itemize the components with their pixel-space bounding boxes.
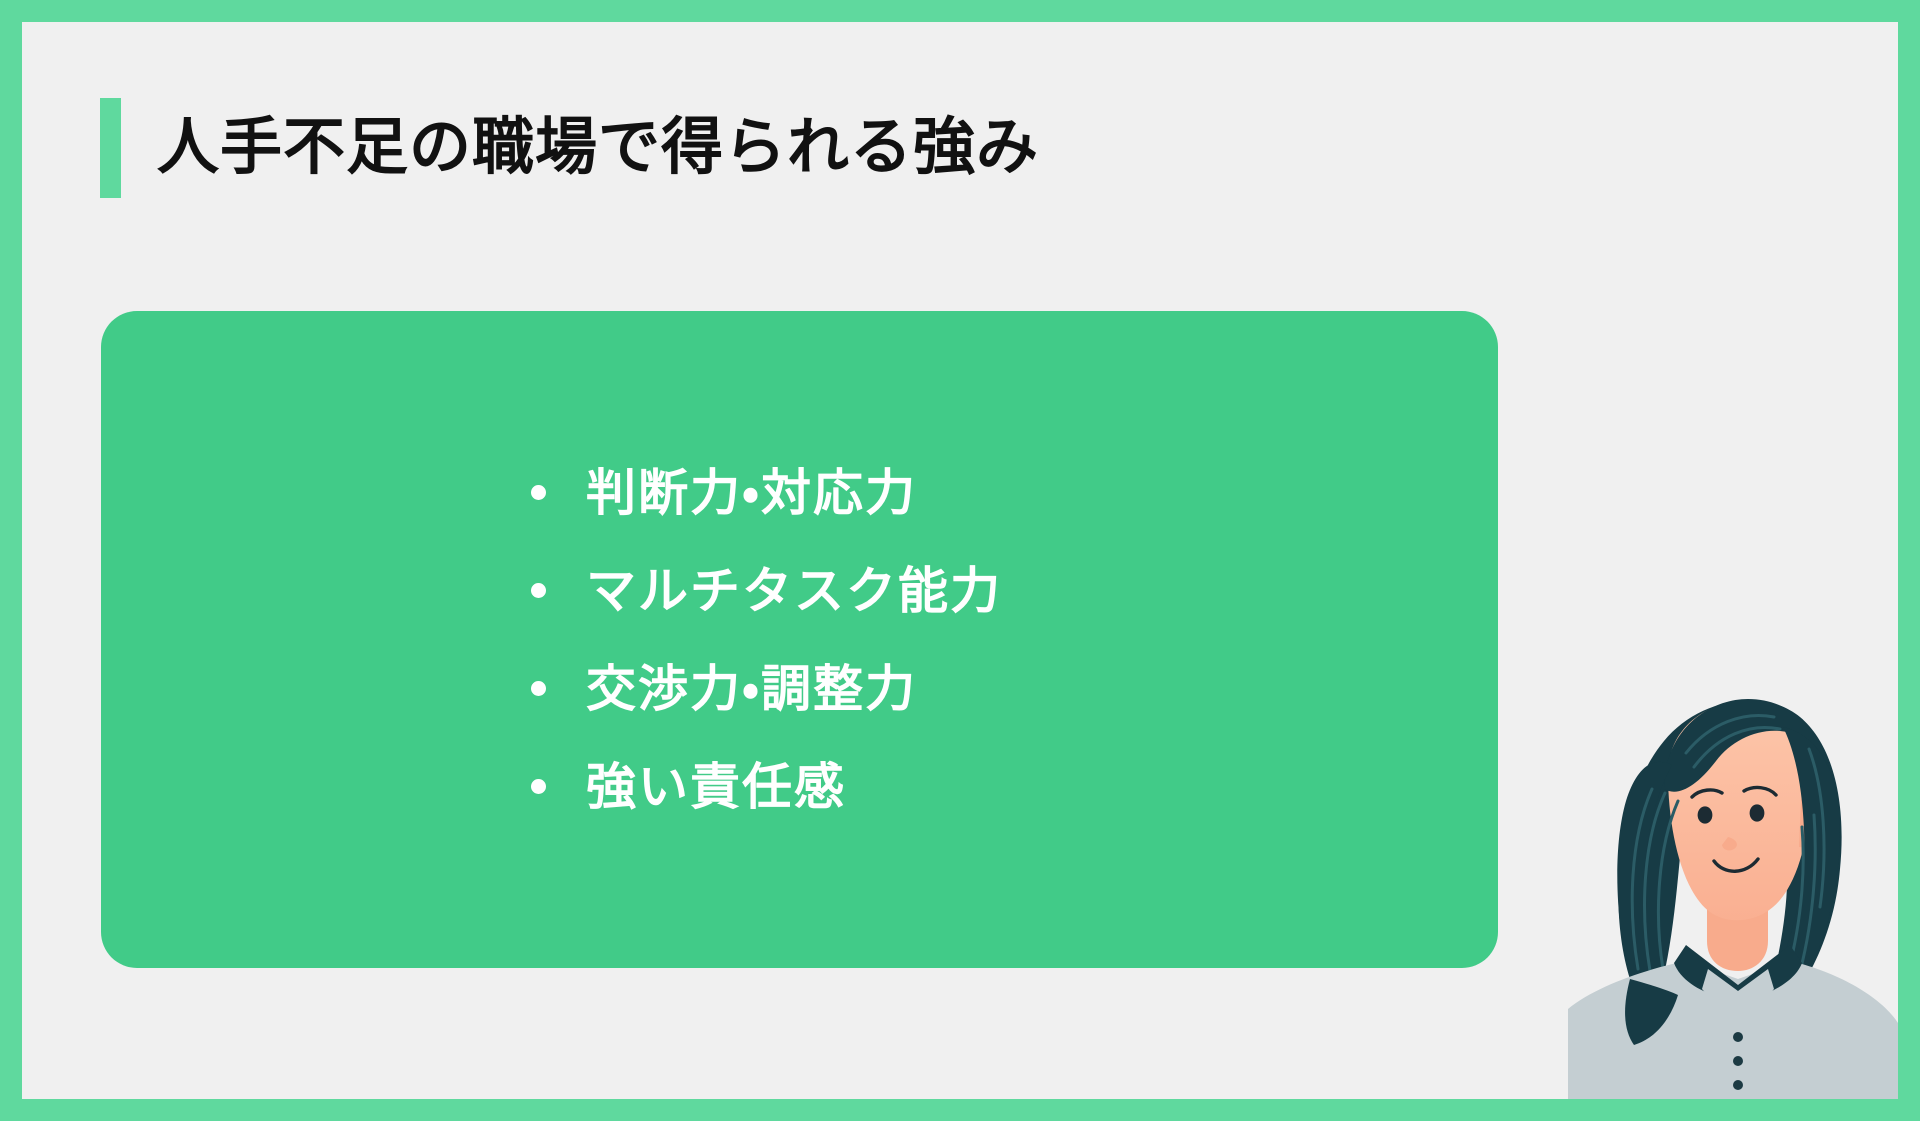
- strengths-card: 判断力・対応力 マルチタスク能力 交渉力・調整力 強い責任感: [101, 311, 1498, 968]
- hair-side-left-shape: [1617, 762, 1672, 979]
- eye-left-shape: [1698, 806, 1713, 823]
- eyebrow-left-shape: [1692, 790, 1722, 797]
- bullet-dot-icon: [531, 485, 546, 500]
- bullet-dot-icon: [531, 583, 546, 598]
- hair-over-shoulder-left-shape: [1625, 979, 1678, 1045]
- list-item: 交渉力・調整力: [101, 640, 1498, 738]
- list-item-label: 強い責任感: [586, 762, 846, 812]
- hair-front-shape: [1664, 699, 1830, 792]
- list-item: 強い責任感: [101, 738, 1498, 836]
- list-item: マルチタスク能力: [101, 542, 1498, 640]
- nose-shape: [1722, 837, 1737, 850]
- collar-shape: [1674, 945, 1802, 1005]
- strengths-list: 判断力・対応力 マルチタスク能力 交渉力・調整力 強い責任感: [101, 444, 1498, 836]
- button-icon: [1733, 1080, 1743, 1090]
- title-accent-bar: [100, 98, 121, 198]
- eye-right-shape: [1750, 804, 1765, 821]
- bullet-dot-icon: [531, 681, 546, 696]
- title-label: 人手不足の職場で得られる強み: [157, 117, 1039, 179]
- hair-highlights: [1632, 716, 1824, 980]
- ear-inner-shape: [1803, 810, 1814, 837]
- woman-illustration: [1568, 679, 1898, 1099]
- slide-canvas: 人手不足の職場で得られる強み 判断力・対応力 マルチタスク能力 交渉力・調整力: [22, 22, 1898, 1099]
- collar-point-left-shape: [1702, 969, 1738, 1029]
- slide-root: 人手不足の職場で得られる強み 判断力・対応力 マルチタスク能力 交渉力・調整力: [0, 0, 1920, 1121]
- ear-shape: [1799, 798, 1820, 847]
- neck-shape: [1707, 884, 1768, 971]
- bullet-dot-icon: [531, 779, 546, 794]
- face-group: [1658, 689, 1828, 939]
- button-icon: [1733, 1056, 1743, 1066]
- hair-side-right-shape: [1774, 727, 1840, 979]
- woman-illustration-svg: [1568, 679, 1898, 1099]
- list-item-label: 交渉力・調整力: [586, 664, 917, 714]
- list-item: 判断力・対応力: [101, 444, 1498, 542]
- list-item-label: マルチタスク能力: [586, 566, 1002, 616]
- collar-point-right-shape: [1738, 969, 1774, 1029]
- blouse-shape: [1568, 961, 1898, 1099]
- list-item-label: 判断力・対応力: [586, 468, 917, 518]
- button-icon: [1733, 1032, 1743, 1042]
- mouth-shape: [1714, 859, 1758, 871]
- hair-back-shape: [1618, 700, 1841, 979]
- eyebrow-right-shape: [1744, 788, 1776, 795]
- page-title: 人手不足の職場で得られる強み: [100, 98, 1039, 198]
